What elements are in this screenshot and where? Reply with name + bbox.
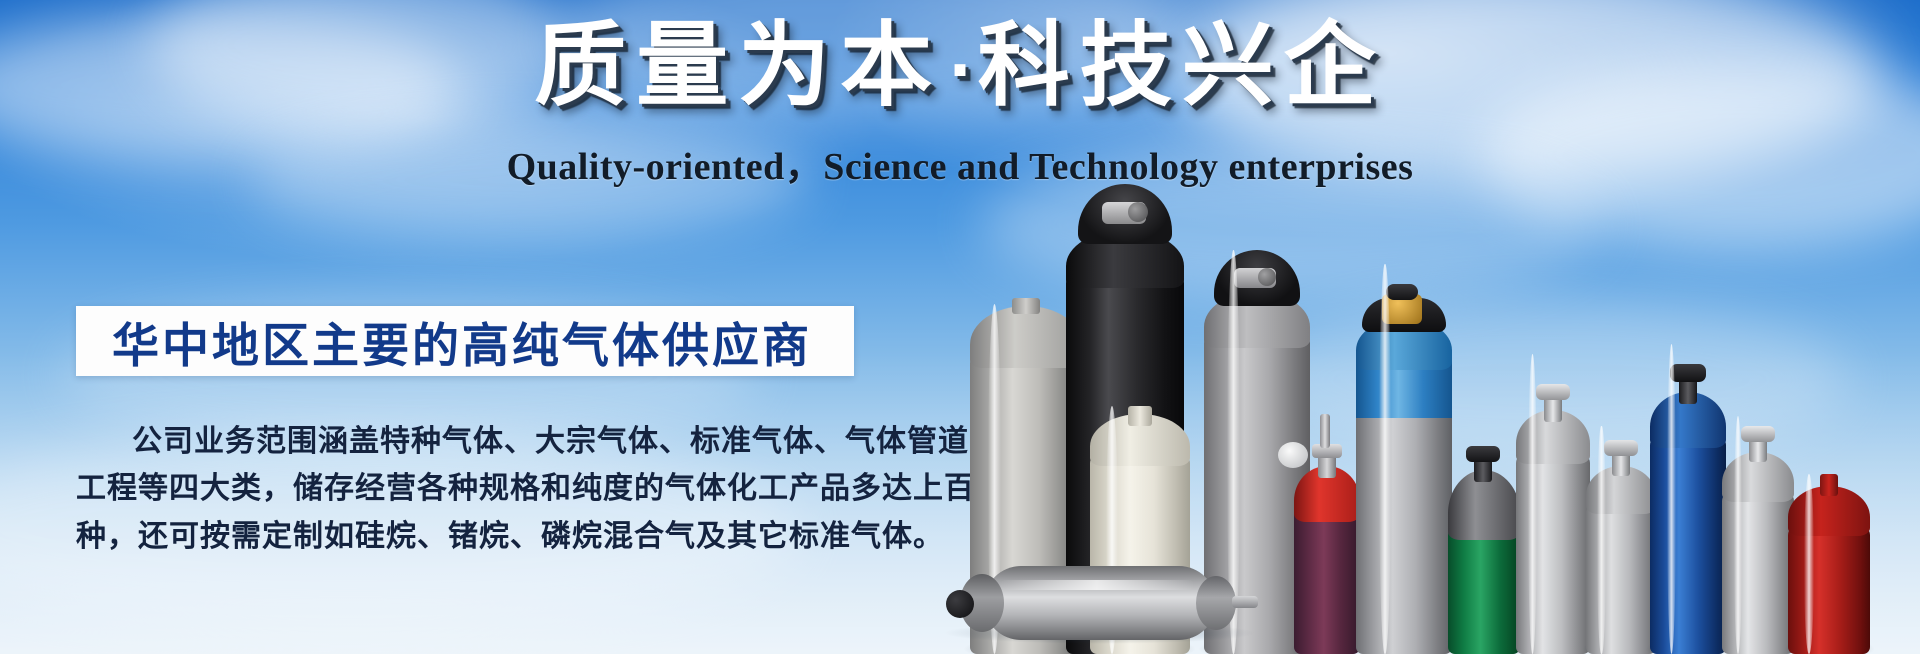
gas-company-banner: 质量为本·科技兴企 Quality-oriented，Science and T… <box>0 0 1920 654</box>
cylinder-gloss <box>1667 344 1676 654</box>
headline-left: 质量为本 <box>534 12 942 119</box>
cylinder-body <box>1448 526 1520 654</box>
cylinder-valve-stem <box>1232 596 1258 608</box>
cylinder-neck <box>1128 406 1152 426</box>
cylinder-body <box>984 566 1216 640</box>
cylinder-blue-navy <box>1650 344 1726 654</box>
cylinder-valve-handwheel <box>1258 268 1276 286</box>
cylinder-valve-handwheel <box>1128 202 1148 222</box>
cylinder-end-cap-right <box>1196 576 1236 630</box>
cylinder-aluminium-c <box>1722 416 1794 654</box>
cylinder-valve-handwheel <box>1536 384 1570 400</box>
cylinder-gloss <box>1734 416 1743 654</box>
cylinder-body <box>1722 492 1794 654</box>
cylinder-gloss <box>1597 426 1605 654</box>
cylinder-neck <box>1820 474 1838 496</box>
gas-cylinder-group <box>950 0 1920 654</box>
cylinder-valve-handwheel <box>1604 440 1638 456</box>
highlight-bar: 华中地区主要的高纯气体供应商 <box>76 306 854 376</box>
cylinder-gloss <box>1528 354 1537 654</box>
cylinder-pressure-gauge <box>1278 442 1308 468</box>
cylinder-green-small <box>1448 404 1520 654</box>
cylinder-body <box>1294 504 1360 654</box>
cylinder-aluminium-b <box>1586 426 1656 654</box>
cylinder-valve-handwheel <box>946 590 974 618</box>
paragraph-line-2: 工程等四大类，储存经营各种规格和纯度的气体化工产品多达上百 <box>76 465 866 512</box>
cylinder-neck <box>1012 298 1040 314</box>
cylinder-valve-handwheel <box>1741 426 1775 442</box>
paragraph-line-1: 公司业务范围涵盖特种气体、大宗气体、标准气体、气体管道 <box>76 418 866 465</box>
paragraph-line-3: 种，还可按需定制如硅烷、锗烷、磷烷混合气及其它标准气体。 <box>76 513 866 560</box>
cylinder-gloss <box>1379 264 1391 654</box>
cylinder-body <box>1650 436 1726 654</box>
cylinder-valve-handwheel <box>1386 284 1418 300</box>
cylinder-regulator-stem <box>1320 414 1330 448</box>
cylinder-red-small <box>1294 386 1360 654</box>
cylinder-blue-banded <box>1356 264 1452 654</box>
cylinder-body <box>1788 526 1870 654</box>
banner-paragraph: 公司业务范围涵盖特种气体、大宗气体、标准气体、气体管道 工程等四大类，储存经营各… <box>76 418 866 560</box>
cylinder-lying-grey <box>960 566 1240 640</box>
cylinder-red-right <box>1788 474 1870 654</box>
cylinder-aluminium-a <box>1516 354 1590 654</box>
cylinder-gloss <box>1000 580 1194 590</box>
cylinder-valve-handwheel <box>1466 446 1500 462</box>
highlight-bar-text: 华中地区主要的高纯气体供应商 <box>76 307 812 376</box>
cylinder-valve-handwheel <box>1670 364 1706 382</box>
